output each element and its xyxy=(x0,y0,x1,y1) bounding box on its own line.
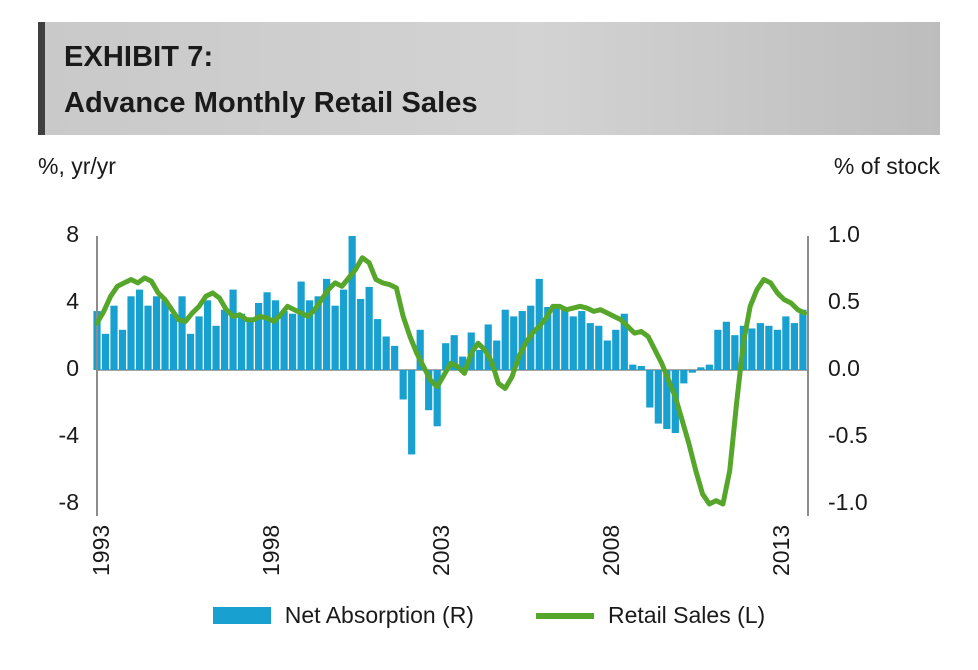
bar xyxy=(161,300,168,370)
bar xyxy=(204,300,211,370)
bar xyxy=(187,334,194,370)
bar xyxy=(102,334,109,370)
bar xyxy=(578,311,585,370)
bar xyxy=(502,310,509,370)
x-axis-tick-label: 2003 xyxy=(428,525,455,576)
y-axis-tick-label-left: -8 xyxy=(0,489,79,516)
bar xyxy=(731,335,738,370)
legend-bar-swatch-icon xyxy=(213,607,271,624)
bar xyxy=(680,370,687,383)
bar xyxy=(289,314,296,370)
bar xyxy=(127,296,134,370)
legend-label-net-absorption: Net Absorption (R) xyxy=(285,602,474,629)
bar xyxy=(357,299,364,370)
bar xyxy=(799,310,806,370)
y-axis-tick-label-right: -0.5 xyxy=(828,422,868,449)
bar xyxy=(612,330,619,370)
bar xyxy=(757,323,764,370)
bar xyxy=(170,314,177,370)
chart-svg xyxy=(0,0,978,665)
x-axis-tick-label: 2008 xyxy=(598,525,625,576)
y-axis-tick-label-left: 0 xyxy=(0,355,79,382)
bar xyxy=(646,370,653,408)
bar xyxy=(570,316,577,370)
bar xyxy=(400,370,407,399)
bar xyxy=(765,326,772,370)
bar-series-net-absorption xyxy=(93,236,806,454)
bar xyxy=(178,296,185,370)
bar xyxy=(136,290,143,370)
bar xyxy=(110,306,117,370)
x-axis-tick-label: 2013 xyxy=(768,525,795,576)
bar xyxy=(476,350,483,370)
x-axis-tick-label: 1993 xyxy=(88,525,115,576)
bar xyxy=(391,346,398,370)
y-axis-tick-label-right: 0.0 xyxy=(828,355,860,382)
bar xyxy=(714,330,721,370)
bar xyxy=(748,328,755,370)
y-axis-tick-label-right: 1.0 xyxy=(828,221,860,248)
y-axis-tick-label-right: -1.0 xyxy=(828,489,868,516)
bar xyxy=(340,290,347,370)
y-axis-tick-label-left: -4 xyxy=(0,422,79,449)
bar xyxy=(689,370,696,373)
bar xyxy=(629,365,636,370)
bar xyxy=(119,330,126,370)
bar xyxy=(774,330,781,370)
bar xyxy=(298,282,305,370)
bar xyxy=(638,366,645,370)
bar xyxy=(144,306,151,370)
bar xyxy=(281,311,288,370)
y-axis-tick-label-left: 4 xyxy=(0,288,79,315)
y-axis-tick-label-right: 0.5 xyxy=(828,288,860,315)
legend-line-swatch-icon xyxy=(536,613,594,619)
bar xyxy=(374,319,381,370)
bar xyxy=(238,314,245,370)
bar xyxy=(255,303,262,370)
legend-item-net-absorption: Net Absorption (R) xyxy=(213,602,474,629)
bar xyxy=(229,290,236,370)
bar xyxy=(332,306,339,370)
chart-canvas: 840-4-81.00.50.0-0.5-1.01993199820032008… xyxy=(0,0,978,665)
bar xyxy=(553,306,560,370)
bar xyxy=(212,326,219,370)
bar xyxy=(595,326,602,370)
legend-item-retail-sales: Retail Sales (L) xyxy=(536,602,765,629)
chart-legend: Net Absorption (R) Retail Sales (L) xyxy=(0,602,978,629)
bar xyxy=(706,365,713,370)
bar xyxy=(655,370,662,424)
line-series-retail-sales xyxy=(97,258,805,504)
bar xyxy=(604,341,611,370)
bar xyxy=(697,367,704,370)
bar xyxy=(366,287,373,370)
bar xyxy=(791,323,798,370)
bar xyxy=(723,322,730,370)
bar xyxy=(153,296,160,370)
bar xyxy=(195,316,202,370)
bar xyxy=(272,300,279,370)
bar xyxy=(408,370,415,454)
bar xyxy=(349,236,356,370)
bar xyxy=(221,310,228,370)
x-axis-tick-label: 1998 xyxy=(258,525,285,576)
legend-label-retail-sales: Retail Sales (L) xyxy=(608,602,765,629)
bar xyxy=(263,292,270,370)
bar xyxy=(561,310,568,370)
y-axis-tick-label-left: 8 xyxy=(0,221,79,248)
bar xyxy=(782,316,789,370)
bar xyxy=(587,323,594,370)
bar xyxy=(246,320,253,370)
bar xyxy=(383,337,390,371)
